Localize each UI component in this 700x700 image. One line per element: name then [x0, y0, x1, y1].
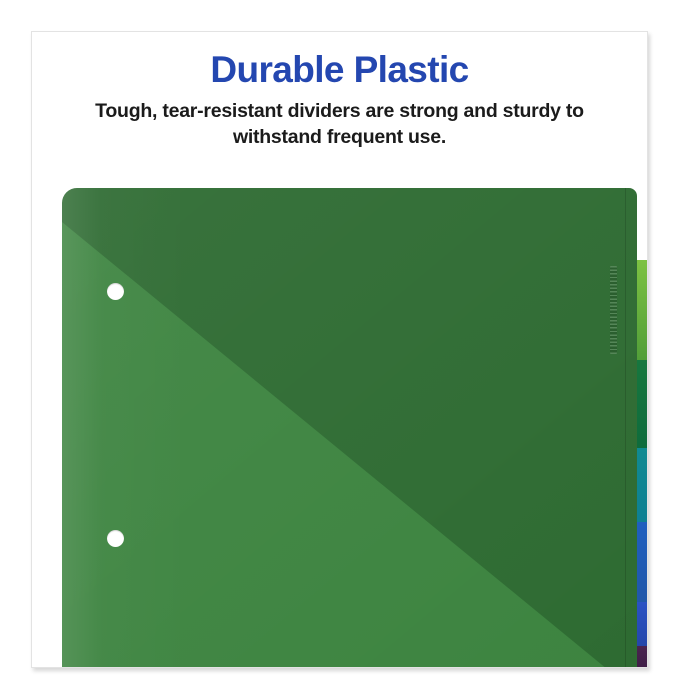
- page-title: Durable Plastic: [32, 49, 647, 90]
- green-plastic-divider: [62, 188, 637, 668]
- product-image-card: Durable Plastic Tough, tear-resistant di…: [31, 31, 648, 668]
- top-punch-hole: [107, 283, 124, 300]
- divider-edge-seam: [625, 188, 626, 668]
- diagonal-pocket-flap: [62, 188, 637, 668]
- product-subcopy: Tough, tear-resistant dividers are stron…: [60, 99, 620, 151]
- bottom-punch-hole: [107, 530, 124, 547]
- ribbed-reinforcement-strip: [610, 266, 617, 354]
- marketing-copy-block: Durable Plastic Tough, tear-resistant di…: [32, 49, 647, 151]
- screenshot-stage: Durable Plastic Tough, tear-resistant di…: [0, 0, 700, 700]
